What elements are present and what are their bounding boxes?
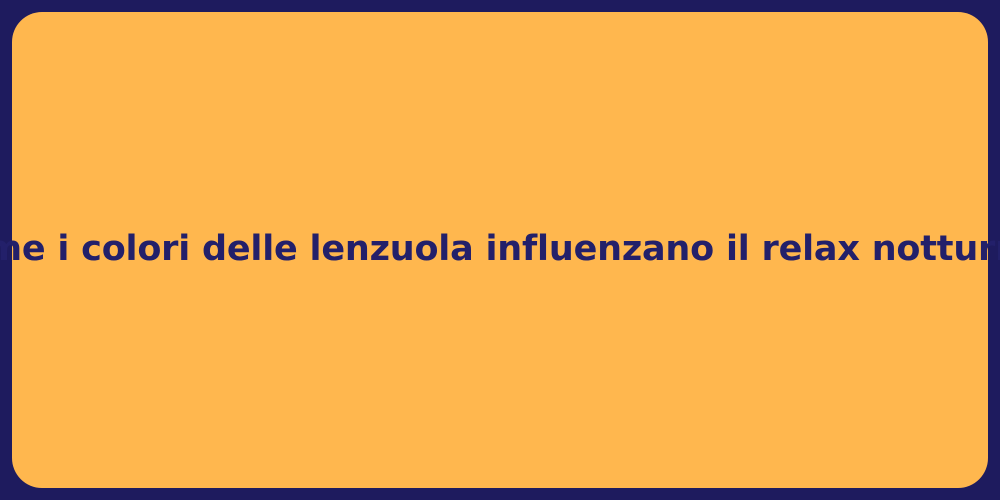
page-title: Come i colori delle lenzuola influenzano… [0, 228, 1000, 272]
card-frame: Come i colori delle lenzuola influenzano… [0, 0, 1000, 500]
card-panel: Come i colori delle lenzuola influenzano… [12, 12, 988, 488]
